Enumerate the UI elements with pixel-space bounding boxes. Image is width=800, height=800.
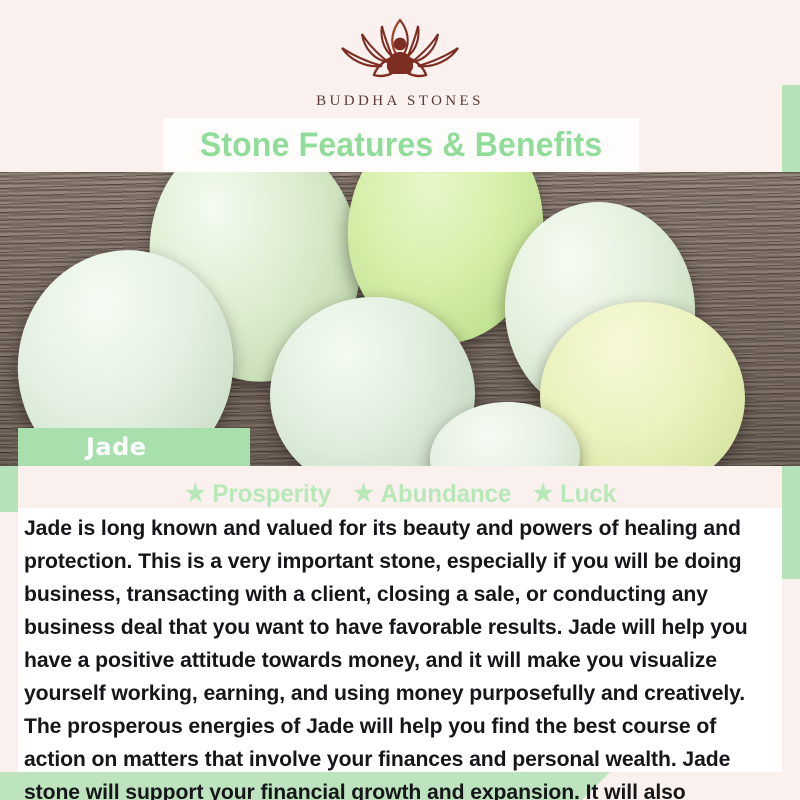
star-icon: ★: [354, 482, 375, 506]
stone-name-label: Jade: [86, 433, 147, 461]
description-text: Jade is long known and valued for its be…: [24, 512, 767, 800]
keyword-label: Abundance: [381, 480, 512, 509]
description-panel: Jade is long known and valued for its be…: [18, 508, 782, 772]
brand-name: BUDDHA STONES: [316, 93, 484, 110]
keyword-luck: ★ Luck: [533, 480, 616, 509]
title-banner: Stone Features & Benefits: [163, 118, 639, 172]
star-icon: ★: [533, 482, 554, 506]
keyword-label: Luck: [560, 480, 616, 509]
stone-name-tag: Jade: [18, 428, 250, 466]
lotus-meditation-icon: [326, 10, 474, 89]
keyword-label: Prosperity: [213, 480, 332, 509]
keyword-prosperity: ★ Prosperity: [185, 480, 331, 509]
hero-photo: [0, 172, 800, 466]
keyword-row: ★ Prosperity ★ Abundance ★ Luck: [0, 478, 800, 510]
keyword-abundance: ★ Abundance: [354, 480, 512, 509]
brand-header: BUDDHA STONES: [0, 0, 800, 120]
page-title: Stone Features & Benefits: [200, 126, 603, 165]
star-icon: ★: [185, 482, 206, 506]
product-info-card: BUDDHA STONES Stone Features & Benefits …: [0, 0, 800, 800]
